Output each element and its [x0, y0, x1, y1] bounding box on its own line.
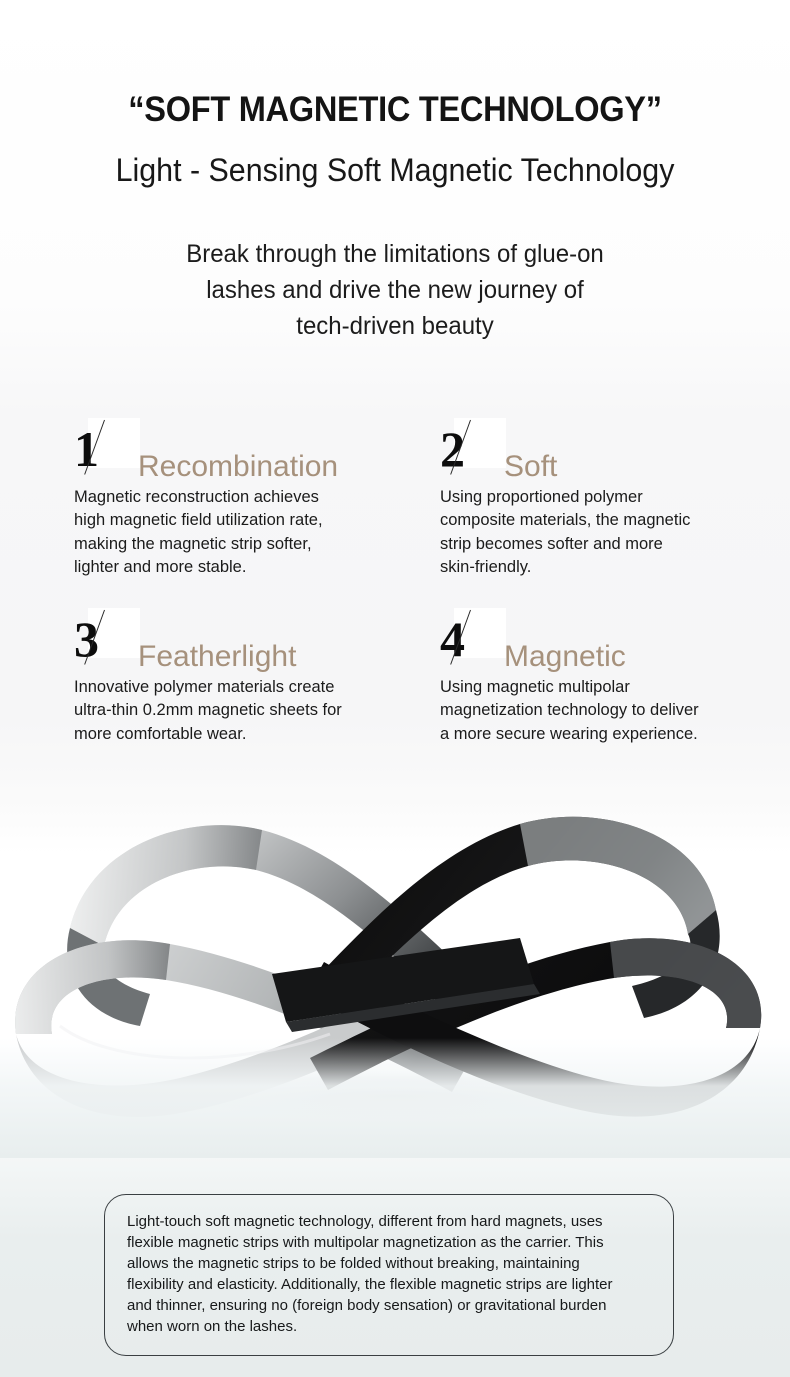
- page-subtitle: Light - Sensing Soft Magnetic Technology: [20, 129, 771, 188]
- feature-body-line: strip becomes softer and more: [440, 533, 760, 556]
- lede-paragraph: Break through the limitations of glue-on…: [126, 188, 664, 344]
- feature-title: Soft: [504, 452, 557, 482]
- lede-line: lashes and drive the new journey of: [126, 272, 664, 308]
- feature-heading: 2 Soft: [440, 424, 770, 480]
- feature-body-line: ultra-thin 0.2mm magnetic sheets for: [74, 699, 394, 722]
- page-title: “SOFT MAGNETIC TECHNOLOGY”: [28, 0, 763, 129]
- feature-heading: 4 Magnetic: [440, 614, 770, 670]
- feature-body: Magnetic reconstruction achieves high ma…: [74, 486, 394, 580]
- footnote-text: Light-touch soft magnetic technology, di…: [127, 1211, 651, 1337]
- feature-body: Using magnetic multipolar magnetization …: [440, 676, 760, 746]
- feature-body-line: skin-friendly.: [440, 556, 760, 579]
- feature-title: Recombination: [138, 452, 338, 482]
- feature-body-line: a more secure wearing experience.: [440, 723, 760, 746]
- feature-number-wrap: 4: [440, 614, 496, 670]
- feature-grid: 1 Recombination Magnetic reconstruction …: [0, 424, 790, 774]
- footnote-line: flexible magnetic strips with multipolar…: [127, 1232, 651, 1253]
- feature-body: Innovative polymer materials create ultr…: [74, 676, 394, 746]
- feature-number-wrap: 2: [440, 424, 496, 480]
- feature-heading: 1 Recombination: [74, 424, 404, 480]
- feature-title: Featherlight: [138, 642, 296, 672]
- footnote-box: Light-touch soft magnetic technology, di…: [104, 1194, 674, 1356]
- feature-item-recombination: 1 Recombination Magnetic reconstruction …: [74, 424, 404, 580]
- footnote-line: allows the magnetic strips to be folded …: [127, 1253, 651, 1274]
- feature-body-line: more comfortable wear.: [74, 723, 394, 746]
- infographic-page: “SOFT MAGNETIC TECHNOLOGY” Light - Sensi…: [0, 0, 790, 1377]
- footnote-line: flexibility and elasticity. Additionally…: [127, 1274, 651, 1295]
- feature-body-line: lighter and more stable.: [74, 556, 394, 579]
- feature-number-wrap: 3: [74, 614, 130, 670]
- feature-number-wrap: 1: [74, 424, 130, 480]
- feature-body-line: Using proportioned polymer: [440, 486, 760, 509]
- feature-item-soft: 2 Soft Using proportioned polymer compos…: [440, 424, 770, 580]
- lede-line: Break through the limitations of glue-on: [126, 236, 664, 272]
- product-image: [0, 778, 790, 1158]
- feature-body-line: making the magnetic strip softer,: [74, 533, 394, 556]
- footnote-line: when worn on the lashes.: [127, 1316, 651, 1337]
- lede-line: tech-driven beauty: [126, 308, 664, 344]
- feature-body: Using proportioned polymer composite mat…: [440, 486, 760, 580]
- footnote-line: Light-touch soft magnetic technology, di…: [127, 1211, 651, 1232]
- feature-body-line: Magnetic reconstruction achieves: [74, 486, 394, 509]
- feature-heading: 3 Featherlight: [74, 614, 404, 670]
- footnote-line: and thinner, ensuring no (foreign body s…: [127, 1295, 651, 1316]
- feature-body-line: magnetization technology to deliver: [440, 699, 760, 722]
- feature-body-line: Using magnetic multipolar: [440, 676, 760, 699]
- feature-body-line: composite materials, the magnetic: [440, 509, 760, 532]
- feature-item-magnetic: 4 Magnetic Using magnetic multipolar mag…: [440, 614, 770, 746]
- reflective-surface: [0, 1038, 790, 1158]
- header: “SOFT MAGNETIC TECHNOLOGY” Light - Sensi…: [0, 0, 790, 344]
- feature-title: Magnetic: [504, 642, 626, 672]
- feature-item-featherlight: 3 Featherlight Innovative polymer materi…: [74, 614, 404, 746]
- feature-body-line: high magnetic field utilization rate,: [74, 509, 394, 532]
- feature-body-line: Innovative polymer materials create: [74, 676, 394, 699]
